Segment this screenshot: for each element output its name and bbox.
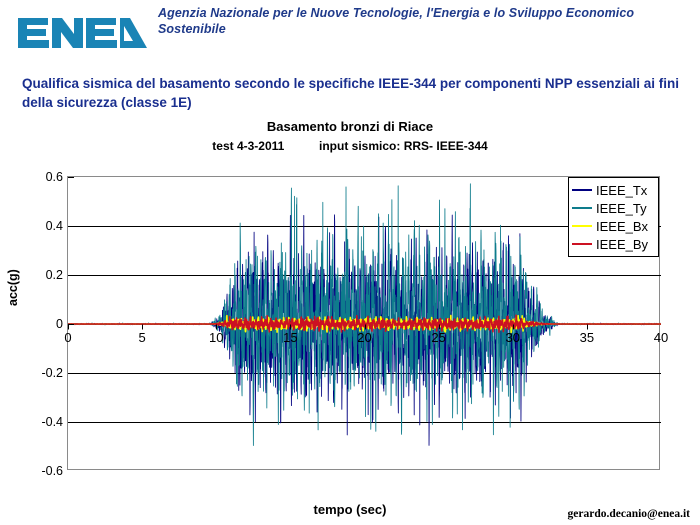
- y-tick-label: 0.6: [17, 170, 63, 184]
- contact-email: gerardo.decanio@enea.it: [568, 508, 690, 520]
- x-tick-label: 40: [654, 330, 668, 345]
- x-tick-label: 10: [209, 330, 223, 345]
- x-tick-label: 20: [357, 330, 371, 345]
- enea-logo: [16, 12, 148, 54]
- y-tick-label: -0.6: [17, 464, 63, 478]
- chart-legend[interactable]: IEEE_Tx IEEE_Ty IEEE_Bx IEEE_By: [568, 177, 659, 257]
- legend-label-ieee-by: IEEE_By: [596, 238, 648, 251]
- y-tick-label: -0.4: [17, 415, 63, 429]
- y-tick-label: -0.2: [17, 366, 63, 380]
- chart-subtitle-test: test 4-3-2011: [212, 139, 284, 153]
- chart-subtitle-input: input sismico: RRS- IEEE-344: [319, 139, 488, 153]
- legend-label-ieee-bx: IEEE_Bx: [596, 220, 648, 233]
- x-tick-label: 35: [580, 330, 594, 345]
- plot-area: 0.60.40.20-0.2-0.4-0.6 0510152025303540 …: [67, 176, 660, 470]
- legend-item: IEEE_Bx: [572, 217, 654, 235]
- organization-title: Agenzia Nazionale per le Nuove Tecnologi…: [158, 5, 688, 37]
- slide-page: Agenzia Nazionale per le Nuove Tecnologi…: [0, 0, 700, 525]
- chart-subtitle: test 4-3-2011 input sismico: RRS- IEEE-3…: [0, 139, 700, 153]
- y-tick-label: 0: [17, 317, 63, 331]
- x-tick-label: 5: [139, 330, 146, 345]
- y-tick-label: 0.4: [17, 219, 63, 233]
- y-axis-label: acc(g): [6, 269, 20, 306]
- x-tick-label: 25: [431, 330, 445, 345]
- y-tick-label: 0.2: [17, 268, 63, 282]
- legend-item: IEEE_By: [572, 235, 654, 253]
- legend-swatch-ieee-ty: [572, 207, 592, 209]
- chart-title: Basamento bronzi di Riace: [0, 119, 700, 134]
- x-tick-label: 0: [64, 330, 71, 345]
- legend-item: IEEE_Tx: [572, 181, 654, 199]
- page-header: Agenzia Nazionale per le Nuove Tecnologi…: [0, 0, 700, 66]
- legend-item: IEEE_Ty: [572, 199, 654, 217]
- legend-label-ieee-tx: IEEE_Tx: [596, 184, 647, 197]
- x-tick-label: 30: [506, 330, 520, 345]
- page-title: Qualifica sismica del basamento secondo …: [22, 74, 682, 112]
- chart-container: Basamento bronzi di Riace test 4-3-2011 …: [0, 110, 700, 525]
- legend-label-ieee-ty: IEEE_Ty: [596, 202, 647, 215]
- legend-swatch-ieee-bx: [572, 225, 592, 227]
- x-tick-label: 15: [283, 330, 297, 345]
- legend-swatch-ieee-tx: [572, 189, 592, 191]
- legend-swatch-ieee-by: [572, 243, 592, 245]
